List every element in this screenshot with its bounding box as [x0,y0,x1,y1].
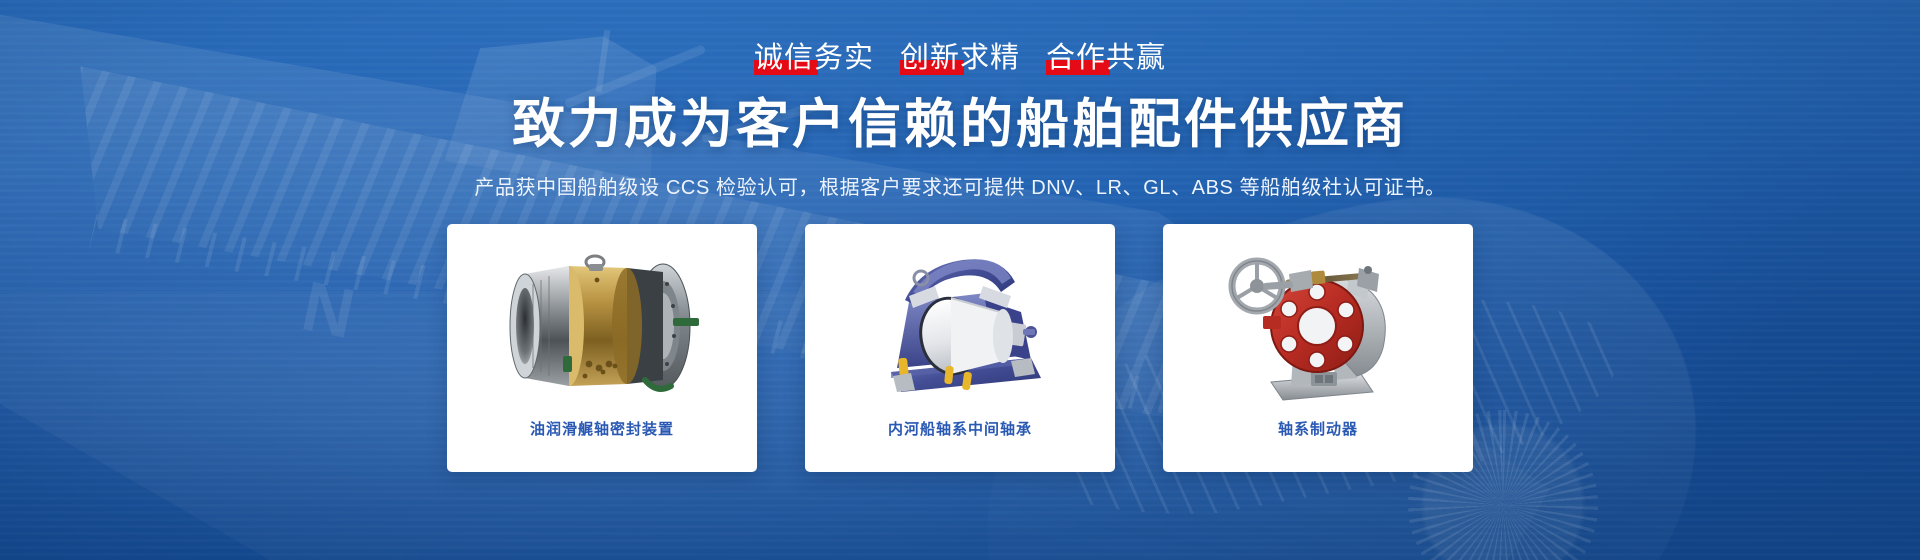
slogan-group-3: 合作共赢 [1046,44,1166,73]
product-card-3[interactable]: 轴系制动器 [1163,224,1473,472]
slogan-text-3: 合作共赢 [1046,42,1166,74]
intermediate-bearing-image [828,236,1092,414]
slogan-text-1: 诚信务实 [754,42,874,74]
banner-content: 诚信务实 创新求精 合作共赢 致力成为客户信赖的船舶配件供应商 产品获中国船舶级… [0,0,1920,560]
product-caption-2: 内河船轴系中间轴承 [888,418,1032,439]
slogan-group-2: 创新求精 [900,44,1020,73]
product-caption-1: 油润滑艉轴密封装置 [530,418,674,439]
slogan-group-1: 诚信务实 [754,44,874,73]
product-caption-3: 轴系制动器 [1278,418,1358,439]
product-card-list: 油润滑艉轴密封装置 [447,224,1473,472]
page-title: 致力成为客户信赖的船舶配件供应商 [512,95,1408,154]
banner-subtitle: 产品获中国船舶级设 CCS 检验认可，根据客户要求还可提供 DNV、LR、GL、… [474,171,1445,200]
product-card-2[interactable]: 内河船轴系中间轴承 [805,224,1115,472]
hero-banner: N I T 诚信务实 创新求精 合作共赢 致力成为客户信赖的船舶配件供应商 产品… [0,0,1920,560]
shaft-brake-image [1186,236,1450,414]
product-card-1[interactable]: 油润滑艉轴密封装置 [447,224,757,472]
stern-shaft-seal-image [470,236,734,414]
slogan-text-2: 创新求精 [900,42,1020,74]
slogan-line: 诚信务实 创新求精 合作共赢 [754,44,1166,73]
